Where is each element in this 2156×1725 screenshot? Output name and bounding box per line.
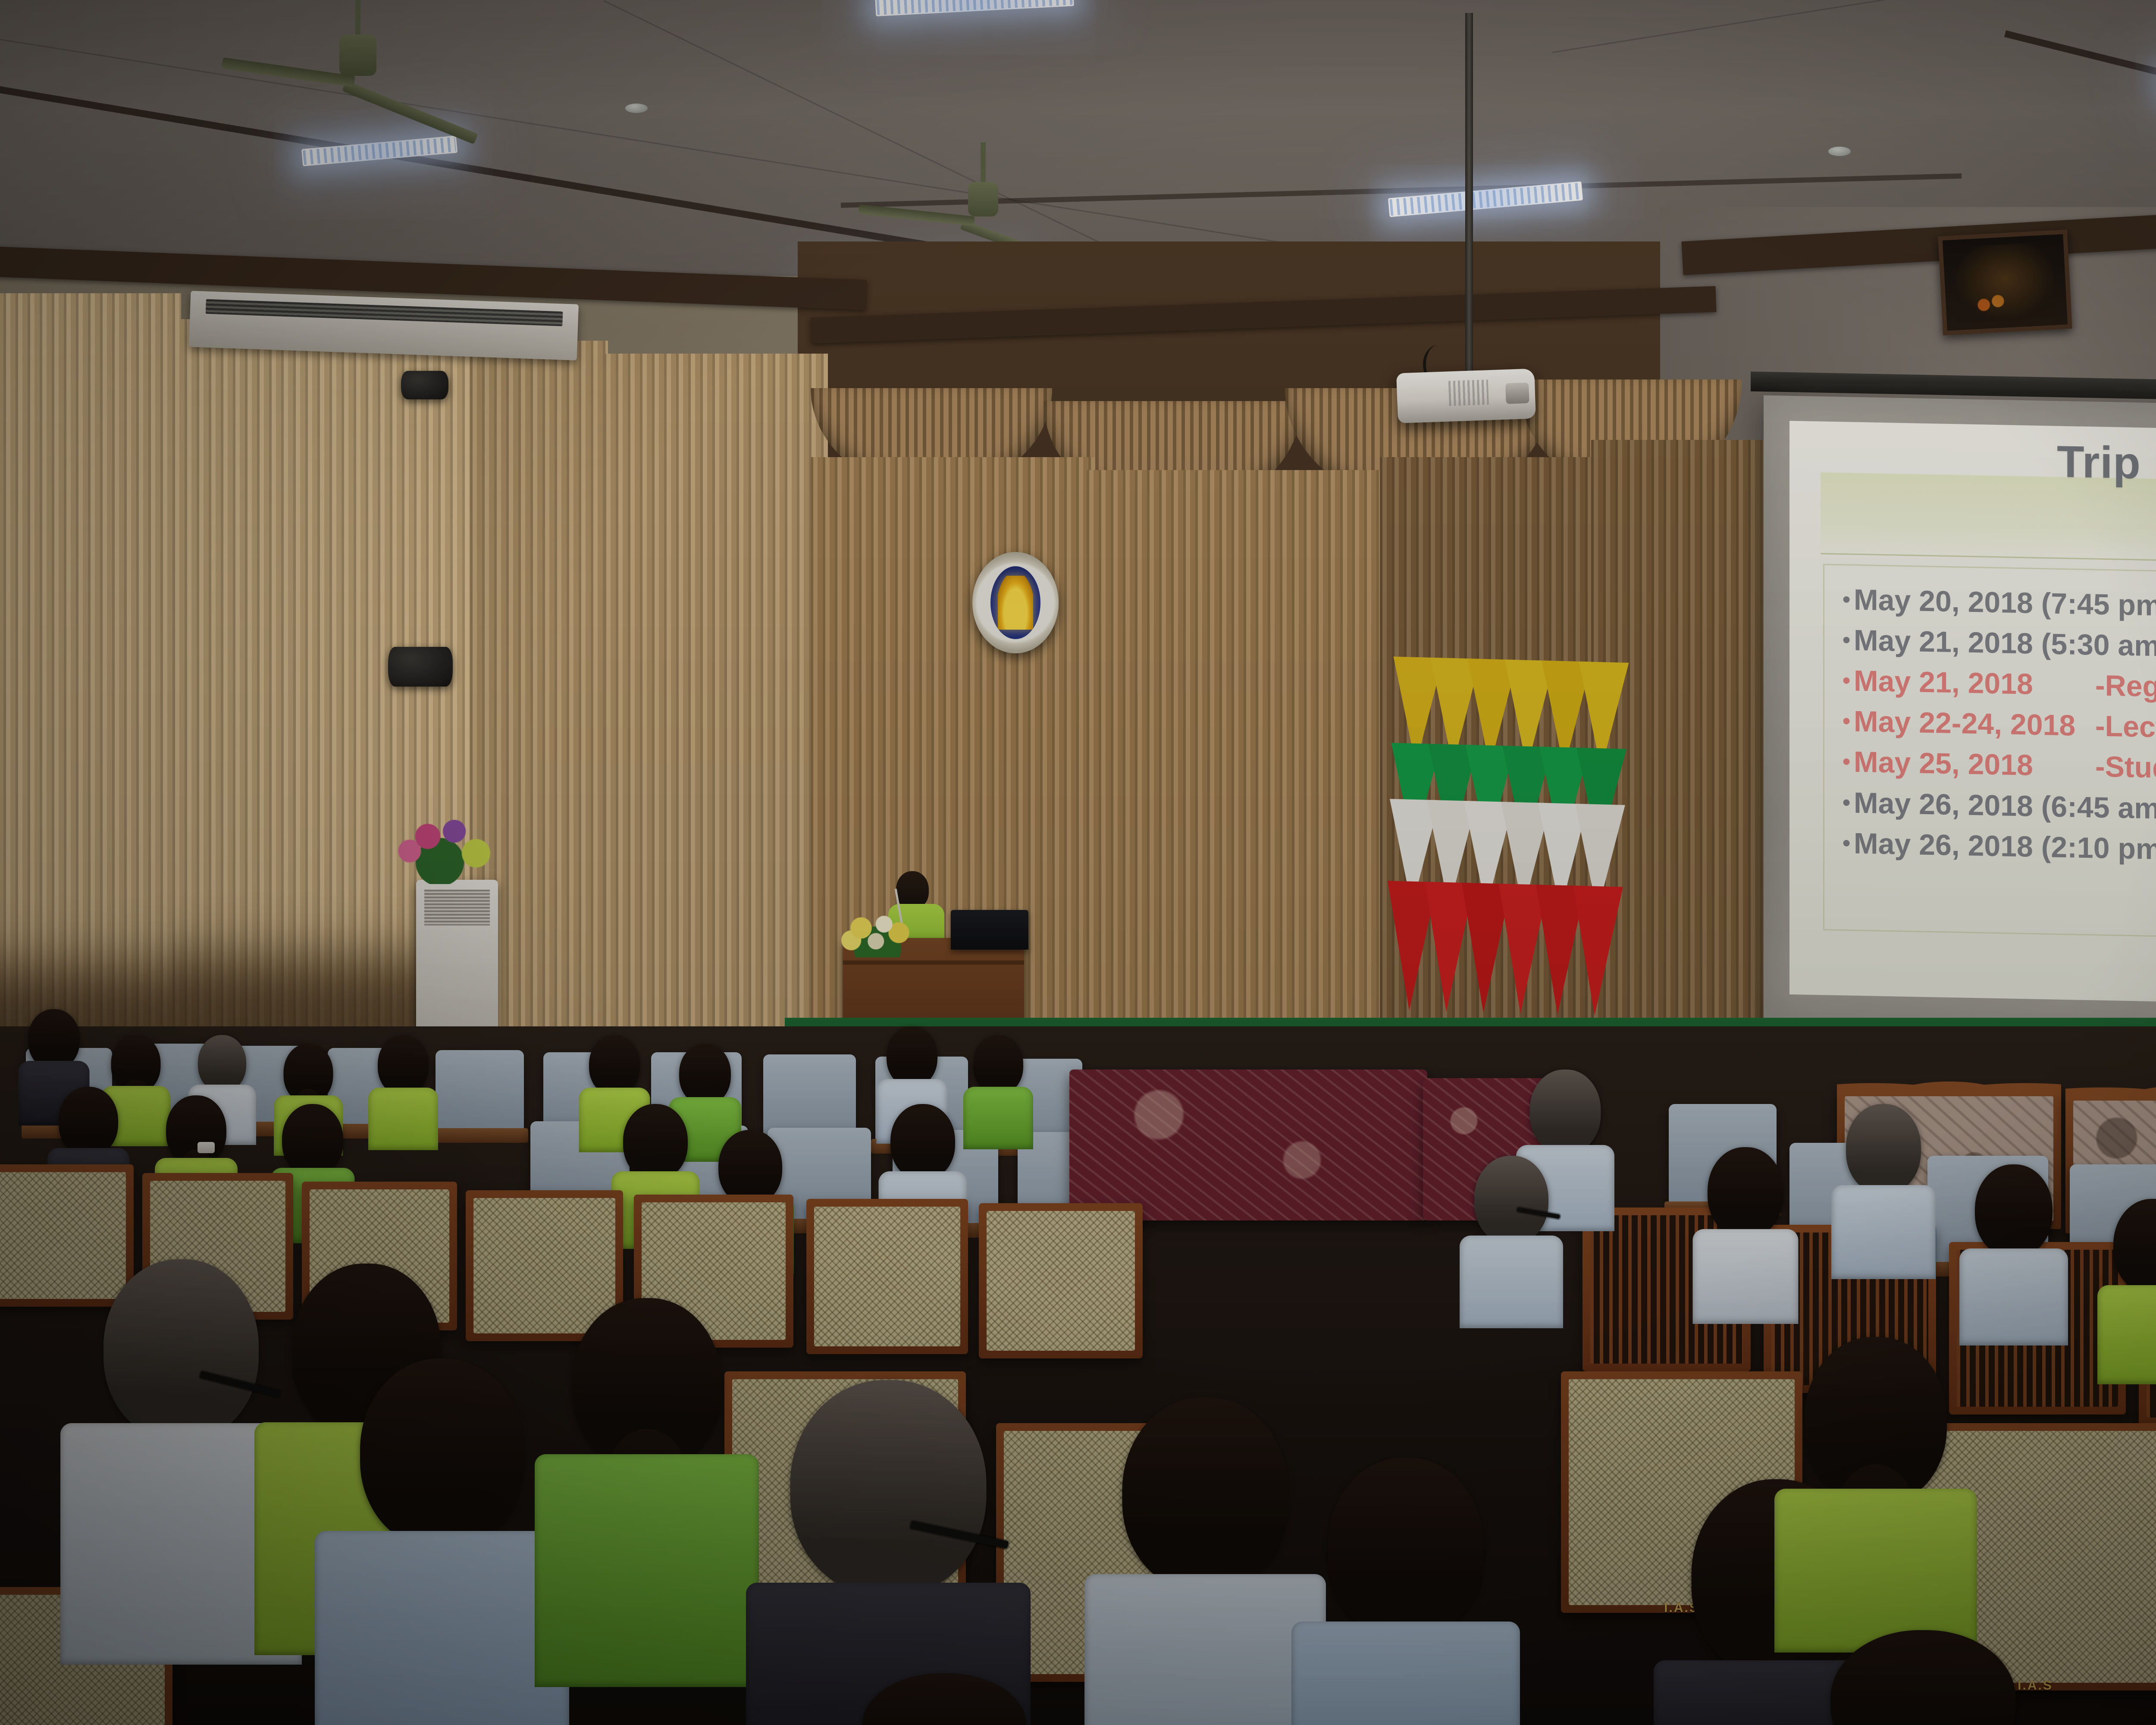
bullet-dot-icon: •	[1843, 751, 1854, 773]
settee-crown	[1837, 1067, 2061, 1095]
plaque-artwork	[1952, 242, 2058, 323]
window-curtain-far-left	[0, 293, 181, 1052]
slide-bullet-date: May 26, 2018 (2:10 pm)	[1854, 827, 2156, 865]
chair-cane[interactable]	[806, 1199, 968, 1354]
stage-curtain-center	[1087, 470, 1388, 1048]
attendee-front	[1789, 1337, 1962, 1639]
slide-bullet-place: -Registration	[2095, 670, 2156, 705]
slide-bullet-date: May 20, 2018 (7:45 pm)	[1854, 584, 2156, 622]
attendee	[371, 1035, 436, 1143]
wall-plaque	[1938, 229, 2072, 335]
projector-mount-pole	[1465, 13, 1473, 371]
attendee-front	[1311, 1458, 1501, 1725]
bullet-dot-icon: •	[1843, 669, 1854, 692]
slide-bullet-list: •May 20, 2018 (7:45 pm) -Yangon•May 21, …	[1823, 564, 2156, 943]
slide-bullet-row: •May 20, 2018 (7:45 pm) -Yangon	[1843, 583, 2156, 628]
chair-blue[interactable]	[436, 1050, 524, 1130]
attendee	[1699, 1147, 1792, 1307]
potted-plant	[379, 811, 500, 884]
bullet-dot-icon: •	[1843, 629, 1854, 651]
projector-lens	[1505, 383, 1529, 404]
window-curtain-right	[604, 354, 828, 1035]
slide-bullet-date: May 21, 2018 (5:30 am)	[1854, 624, 2156, 662]
attendee	[1466, 1156, 1557, 1311]
presenter-laptop	[951, 910, 1028, 950]
slide-bullet-row: •May 22-24, 2018-Lectures (10)	[1843, 706, 2156, 750]
presentation-slide: Trip Diary •May 20, 2018 (7:45 pm) -Yang…	[1789, 421, 2156, 1009]
settee-crown	[2065, 1071, 2156, 1100]
state-emblem	[972, 552, 1059, 653]
conference-hall-scene: Trip Diary •May 20, 2018 (7:45 pm) -Yang…	[0, 0, 2156, 1725]
chair-cane-panel	[814, 1207, 960, 1346]
attendee	[966, 1035, 1031, 1143]
projector-label	[1448, 379, 1489, 406]
bullet-dot-icon: •	[1843, 791, 1854, 814]
attendee-front	[556, 1298, 737, 1678]
presenter-head	[896, 871, 929, 909]
slide-bullet-row: •May 25, 2018-Study tour	[1843, 746, 2156, 790]
chair-blue[interactable]	[763, 1054, 856, 1136]
air-conditioner-floor	[416, 880, 498, 1044]
myanmar-flag-bunting	[1384, 657, 1644, 1043]
slide-bullet-row: •May 21, 2018 (5:30 am) - Beijing	[1843, 624, 2156, 668]
bullet-dot-icon: •	[1843, 832, 1854, 854]
slide-bullet-row: •May 26, 2018 (2:10 pm) -Yangon	[1843, 827, 2156, 872]
attendee	[2104, 1199, 2156, 1367]
smoke-detector-3	[1828, 147, 1851, 156]
slide-bullet-date: May 21, 2018	[1854, 665, 2095, 702]
slide-bullet-place: -Lectures (10)	[2095, 710, 2156, 746]
slide-bullet-date: May 22-24, 2018	[1854, 706, 2095, 742]
chair-cane[interactable]	[979, 1203, 1143, 1358]
slide-bullet-date: May 25, 2018	[1854, 746, 2095, 783]
slide-bullet-place: -Study tour	[2095, 751, 2156, 786]
wall-speaker-upper-left	[401, 371, 448, 399]
emblem-inner	[990, 566, 1040, 639]
attendee-front	[1104, 1397, 1307, 1725]
upholstered-bench-red[interactable]	[1069, 1069, 1427, 1220]
attendee-front	[86, 1259, 276, 1647]
wall-speaker-left	[388, 647, 453, 687]
smoke-detector-1	[625, 103, 648, 113]
emblem-crest	[998, 576, 1033, 630]
slide-bullet-row: •May 26, 2018 (6:45 am) -Beijing	[1843, 787, 2156, 831]
ceiling-projector	[1396, 368, 1536, 423]
attendee-front	[845, 1673, 1044, 1725]
bullet-dot-icon: •	[1843, 588, 1854, 611]
attendee-front	[1811, 1630, 2035, 1725]
attendee-front	[341, 1358, 543, 1725]
flag-triangle-red	[1570, 886, 1623, 1016]
ceiling-fan-left	[207, 0, 509, 121]
slide-bullet-row: •May 21, 2018-Registration	[1843, 665, 2156, 709]
attendee	[1837, 1104, 1930, 1264]
attendee	[1966, 1164, 2061, 1328]
projection-screen: Trip Diary •May 20, 2018 (7:45 pm) -Yang…	[1764, 395, 2156, 1050]
bullet-dot-icon: •	[1843, 710, 1854, 733]
slide-bullet-date: May 26, 2018 (6:45 am)	[1854, 787, 2156, 825]
chair-cane-panel	[987, 1211, 1135, 1351]
flower-arrangement	[837, 910, 918, 957]
